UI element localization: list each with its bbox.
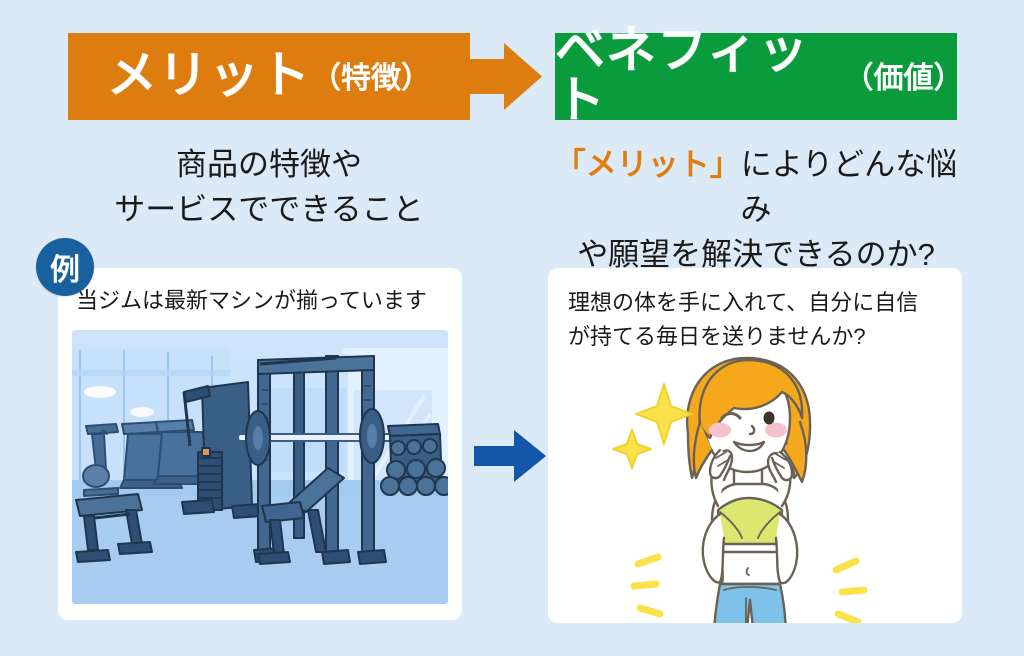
happy-woman-illustration xyxy=(596,338,896,623)
banner-benefit-subtitle: （価値） xyxy=(844,64,958,94)
card-benefit-line1: 理想の体を手に入れて、自分に自信 xyxy=(568,286,948,320)
lead-right-highlight: 「メリット」 xyxy=(555,147,741,182)
lead-text-right: 「メリット」によりどんな悩み や願望を解決できるのか? xyxy=(540,143,972,278)
gym-interior-illustration xyxy=(72,330,448,604)
banner-benefit-title: ベネフィット xyxy=(555,25,844,125)
banner-benefit: ベネフィット（価値） xyxy=(555,33,957,120)
example-badge: 例 xyxy=(36,238,94,296)
lead-left-line2: サービスでできること xyxy=(68,188,470,233)
card-merit-text: 当ジムは最新マシンが揃っています xyxy=(76,284,448,318)
lead-right-rest: によりどんな悩み xyxy=(741,147,958,227)
emphasis-lines-icon xyxy=(836,561,864,622)
lead-right-line1: 「メリット」によりどんな悩み xyxy=(540,143,972,233)
sparkle-icon xyxy=(613,384,692,468)
example-badge-label: 例 xyxy=(50,245,80,289)
card-benefit-example: 理想の体を手に入れて、自分に自信 が持てる毎日を送りませんか? xyxy=(548,268,962,623)
lead-text-left: 商品の特徴や サービスでできること xyxy=(68,143,470,233)
banner-merit: メリット（特徴） xyxy=(68,33,470,120)
lead-left-line1: 商品の特徴や xyxy=(68,143,470,188)
banner-merit-title: メリット xyxy=(107,50,311,100)
infographic-canvas: メリット（特徴） ベネフィット（価値） 商品の特徴や サービスでできること 「メ… xyxy=(0,0,1024,656)
banner-right-arrow-icon xyxy=(470,33,542,120)
emphasis-lines-icon xyxy=(634,557,660,614)
banner-merit-subtitle: （特徴） xyxy=(311,64,431,94)
card-merit-example: 当ジムは最新マシンが揃っています xyxy=(58,268,462,620)
center-right-arrow-icon xyxy=(474,428,546,484)
